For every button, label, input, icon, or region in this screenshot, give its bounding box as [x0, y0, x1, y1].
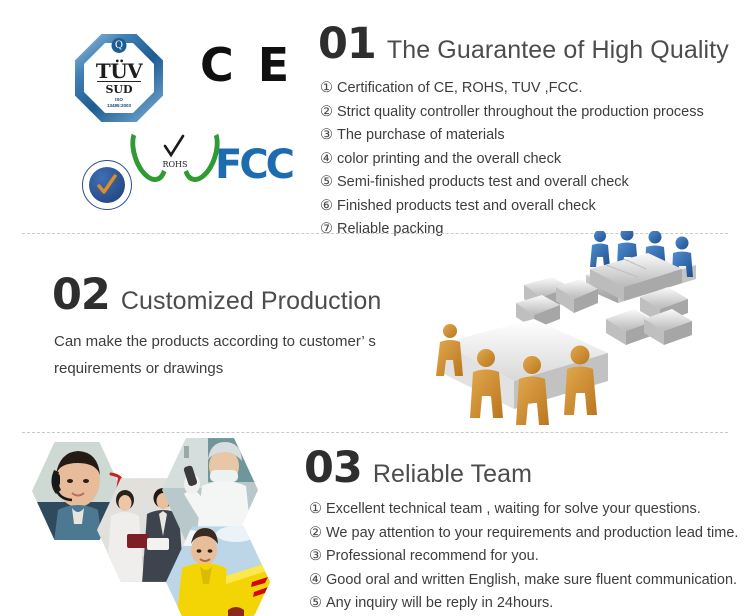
- seal-checkmark-icon: [95, 173, 119, 197]
- section-02-heading: 02 Customized Production: [52, 275, 381, 316]
- list-item: ③ The purchase of materials: [320, 124, 704, 148]
- ce-marking-logo: C E: [200, 42, 293, 88]
- rohs-certification-logo: ROHS: [132, 120, 218, 186]
- section-03-bullet-list: ① Excellent technical team , waiting for…: [309, 498, 738, 616]
- list-text: Strict quality controller throughout the…: [337, 101, 704, 125]
- list-text: Excellent technical team , waiting for s…: [326, 498, 701, 522]
- list-marker: ②: [320, 101, 337, 125]
- list-item: ⑤ Semi-finished products test and overal…: [320, 171, 704, 195]
- section-02-title: Customized Production: [121, 287, 382, 316]
- list-text: Professional recommend for you.: [326, 545, 539, 569]
- team-photo-collage: DHL EXPRESS: [14, 434, 300, 616]
- section-01-heading: 01 The Guarantee of High Quality: [318, 24, 729, 65]
- section-guarantee-of-high-quality: Q TÜV SUD ISO 13485:2003 C E ROHS: [0, 0, 750, 233]
- section-03-number: 03: [304, 448, 362, 488]
- certification-logo-cluster: Q TÜV SUD ISO 13485:2003 C E ROHS: [20, 20, 310, 220]
- list-marker: ①: [320, 77, 337, 101]
- team-puzzle-illustration: [428, 231, 750, 427]
- list-item: ⑤ Any inquiry will be reply in 24hours.: [309, 592, 738, 616]
- product-feature-page: Q TÜV SUD ISO 13485:2003 C E ROHS: [0, 0, 750, 616]
- tuv-standard-line2: 13485:2003: [75, 103, 163, 109]
- list-marker: ③: [309, 545, 326, 569]
- section-01-bullet-list: ① Certification of CE, ROHS, TUV ,FCC. ②…: [320, 77, 704, 242]
- section-02-paragraph: Can make the products according to custo…: [54, 328, 424, 382]
- list-marker: ③: [320, 124, 337, 148]
- tuv-quality-q-icon: Q: [112, 38, 127, 53]
- section-03-title: Reliable Team: [373, 460, 532, 489]
- list-item: ⑥ Finished products test and overall che…: [320, 195, 704, 219]
- list-item: ④ color printing and the overall check: [320, 148, 704, 172]
- tuv-division-label: SUD: [75, 82, 163, 96]
- list-marker: ②: [309, 522, 326, 546]
- section-03-heading: 03 Reliable Team: [304, 448, 532, 489]
- list-text: Good oral and written English, make sure…: [326, 569, 737, 593]
- list-item: ③ Professional recommend for you.: [309, 545, 738, 569]
- rohs-label: ROHS: [132, 160, 218, 169]
- tuv-sud-certification-logo: Q TÜV SUD ISO 13485:2003: [75, 34, 163, 122]
- fcc-certification-logo: FCC: [215, 145, 292, 185]
- list-item: ② We pay attention to your requirements …: [309, 522, 738, 546]
- section-02-number: 02: [52, 275, 110, 315]
- list-text: color printing and the overall check: [337, 148, 561, 172]
- list-item: ① Certification of CE, ROHS, TUV ,FCC.: [320, 77, 704, 101]
- list-item: ④ Good oral and written English, make su…: [309, 569, 738, 593]
- tuv-brand-label: TÜV: [75, 59, 163, 83]
- list-marker: ⑤: [320, 171, 337, 195]
- list-marker: ⑤: [309, 592, 326, 616]
- list-text: Semi-finished products test and overall …: [337, 171, 629, 195]
- section-01-number: 01: [318, 24, 376, 64]
- section-reliable-team: DHL EXPRESS 03 Reliable Team ① Excellent…: [0, 432, 750, 616]
- list-text: Finished products test and overall check: [337, 195, 596, 219]
- list-item: ① Excellent technical team , waiting for…: [309, 498, 738, 522]
- quality-assurance-seal-icon: [82, 160, 132, 210]
- tuv-standard-block: ISO 13485:2003: [75, 97, 163, 109]
- list-marker: ④: [309, 569, 326, 593]
- section-customized-production: 02 Customized Production Can make the pr…: [0, 233, 750, 432]
- list-marker: ⑥: [320, 195, 337, 219]
- list-text: The purchase of materials: [337, 124, 505, 148]
- list-text: Certification of CE, ROHS, TUV ,FCC.: [337, 77, 582, 101]
- list-marker: ①: [309, 498, 326, 522]
- list-marker: ④: [320, 148, 337, 172]
- section-01-title: The Guarantee of High Quality: [387, 36, 729, 65]
- list-text: Any inquiry will be reply in 24hours.: [326, 592, 553, 616]
- list-item: ② Strict quality controller throughout t…: [320, 101, 704, 125]
- rohs-checkmark-icon: [163, 134, 185, 160]
- list-text: We pay attention to your requirements an…: [326, 522, 738, 546]
